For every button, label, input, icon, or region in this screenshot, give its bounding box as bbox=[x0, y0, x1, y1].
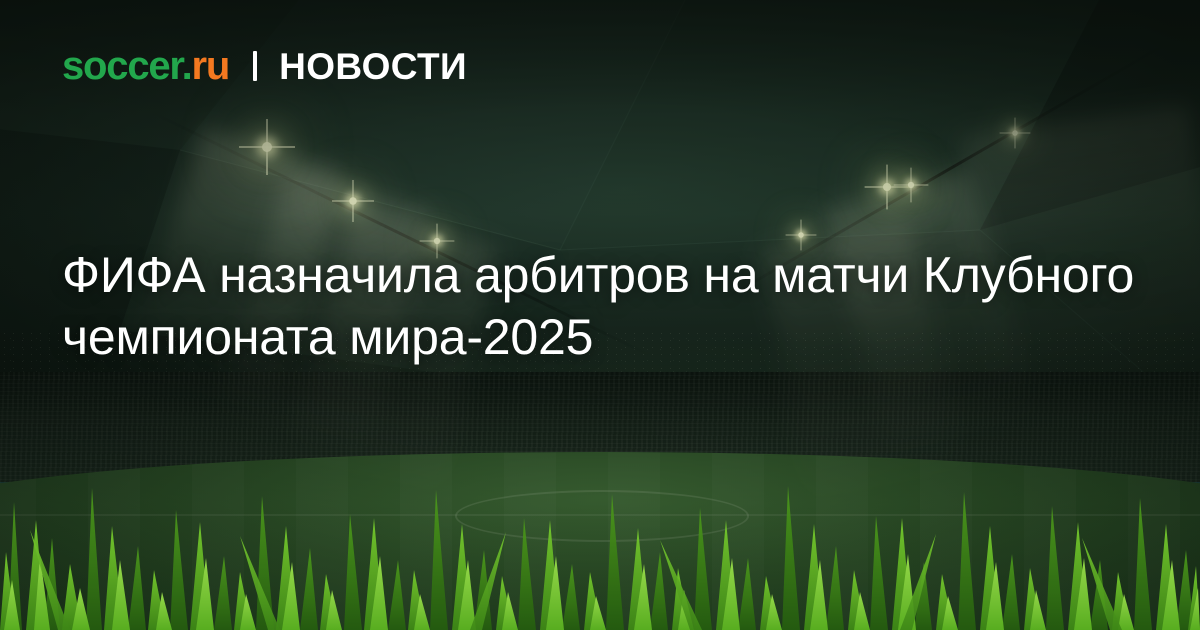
brand-bar: soccer.ru НОВОСТИ bbox=[62, 46, 467, 86]
logo-text-suffix: ru bbox=[192, 44, 230, 88]
section-label-news: НОВОСТИ bbox=[279, 48, 467, 85]
card-content: soccer.ru НОВОСТИ ФИФА назначила арбитро… bbox=[0, 0, 1200, 630]
soccer-ru-logo[interactable]: soccer.ru bbox=[62, 46, 229, 86]
article-headline: ФИФА назначила арбитров на матчи Клубног… bbox=[62, 245, 1137, 368]
social-share-card: soccer.ru НОВОСТИ ФИФА назначила арбитро… bbox=[0, 0, 1200, 630]
brand-divider-icon bbox=[253, 51, 257, 81]
logo-text-primary: soccer. bbox=[62, 44, 192, 88]
